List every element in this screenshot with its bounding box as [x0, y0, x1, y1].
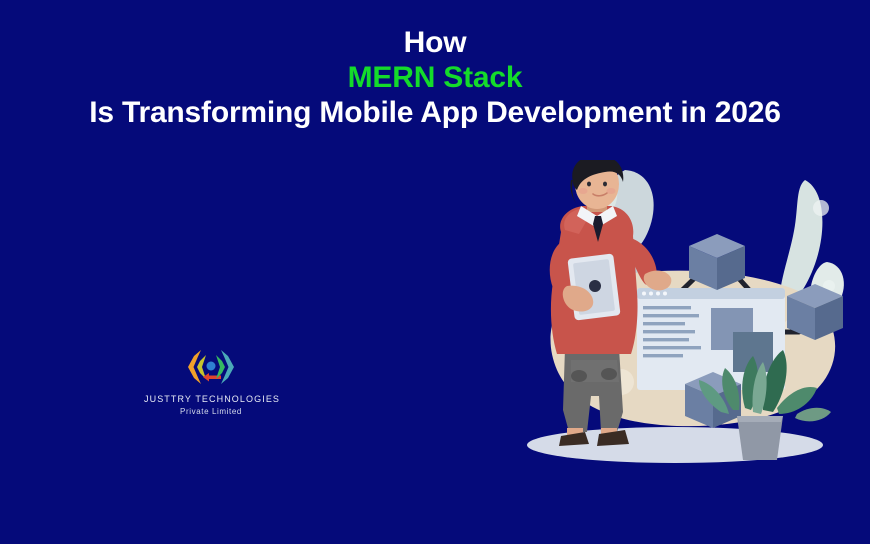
banner-root: How MERN Stack Is Transforming Mobile Ap…: [0, 0, 870, 544]
logo-company-name: JUSTTRY TECHNOLOGIES: [144, 394, 278, 404]
page-title: How MERN Stack Is Transforming Mobile Ap…: [0, 26, 870, 130]
justtry-hexagon-bracket-logo: [183, 346, 239, 388]
network-cube-right: [787, 284, 843, 340]
plant-pot: [737, 416, 783, 460]
network-cube-top: [689, 234, 745, 290]
hero-illustration: [505, 160, 865, 480]
headline-line-1: How: [0, 26, 870, 61]
logo-company-suffix: Private Limited: [144, 407, 278, 416]
headline-line-3: Is Transforming Mobile App Development i…: [0, 96, 870, 131]
brand-logo: JUSTTRY TECHNOLOGIES Private Limited: [144, 346, 278, 416]
headline-line-2-highlight: MERN Stack: [0, 61, 870, 96]
